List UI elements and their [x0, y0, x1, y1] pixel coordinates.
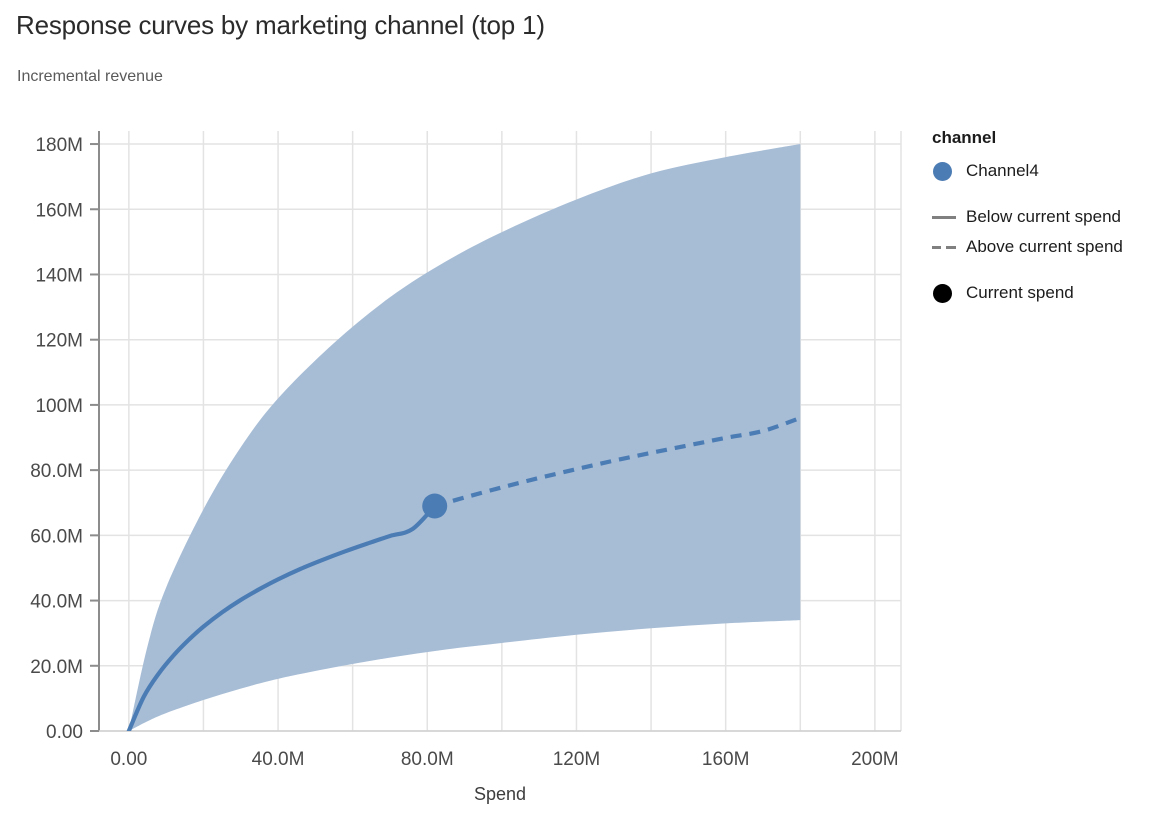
current-spend-dot-icon — [932, 284, 966, 303]
x-axis-tick-label: 120M — [553, 749, 601, 770]
legend-item-label: Current spend — [966, 283, 1074, 303]
x-axis-tick-label: 0.00 — [110, 749, 147, 770]
y-axis-tick-label: 100M — [35, 396, 83, 417]
y-axis-tick-label: 80.0M — [30, 461, 83, 482]
legend-spacer — [932, 186, 1160, 202]
x-axis-tick-label: 160M — [702, 749, 750, 770]
legend-item-below-current-spend[interactable]: Below current spend — [932, 202, 1160, 232]
legend-spacer — [932, 262, 1160, 278]
x-axis-tick-label: 80.0M — [401, 749, 454, 770]
y-axis-ticks: 0.0020.0M40.0M60.0M80.0M100M120M140M160M… — [30, 135, 99, 743]
y-axis-tick-label: 40.0M — [30, 592, 83, 613]
response-curve-plot: 0.0020.0M40.0M60.0M80.0M100M120M140M160M… — [0, 0, 1164, 814]
legend-item-label: Below current spend — [966, 207, 1121, 227]
solid-line-icon — [932, 216, 966, 219]
y-axis-tick-label: 180M — [35, 135, 83, 156]
y-axis-tick-label: 140M — [35, 265, 83, 286]
legend: channel Channel4 Below current spend Abo… — [932, 128, 1160, 308]
current-spend-marker — [422, 494, 447, 519]
legend-title: channel — [932, 128, 1160, 148]
y-axis-tick-label: 0.00 — [46, 722, 83, 743]
dashed-line-icon — [932, 246, 966, 249]
chart-container: Response curves by marketing channel (to… — [0, 0, 1164, 814]
x-axis-tick-label: 40.0M — [252, 749, 305, 770]
x-axis-tick-label: 200M — [851, 749, 899, 770]
y-axis-tick-label: 160M — [35, 200, 83, 221]
x-axis-ticks: 0.0040.0M80.0M120M160M200M — [110, 749, 898, 770]
legend-item-label: Channel4 — [966, 161, 1039, 181]
legend-item-above-current-spend[interactable]: Above current spend — [932, 232, 1160, 262]
x-axis-title: Spend — [474, 784, 526, 804]
channel4-dot-icon — [932, 162, 966, 181]
y-axis-tick-label: 60.0M — [30, 526, 83, 547]
legend-item-channel4[interactable]: Channel4 — [932, 156, 1160, 186]
legend-item-current-spend[interactable]: Current spend — [932, 278, 1160, 308]
y-axis-tick-label: 120M — [35, 331, 83, 352]
plot-band — [129, 144, 800, 731]
y-axis-tick-label: 20.0M — [30, 657, 83, 678]
legend-item-label: Above current spend — [966, 237, 1123, 257]
